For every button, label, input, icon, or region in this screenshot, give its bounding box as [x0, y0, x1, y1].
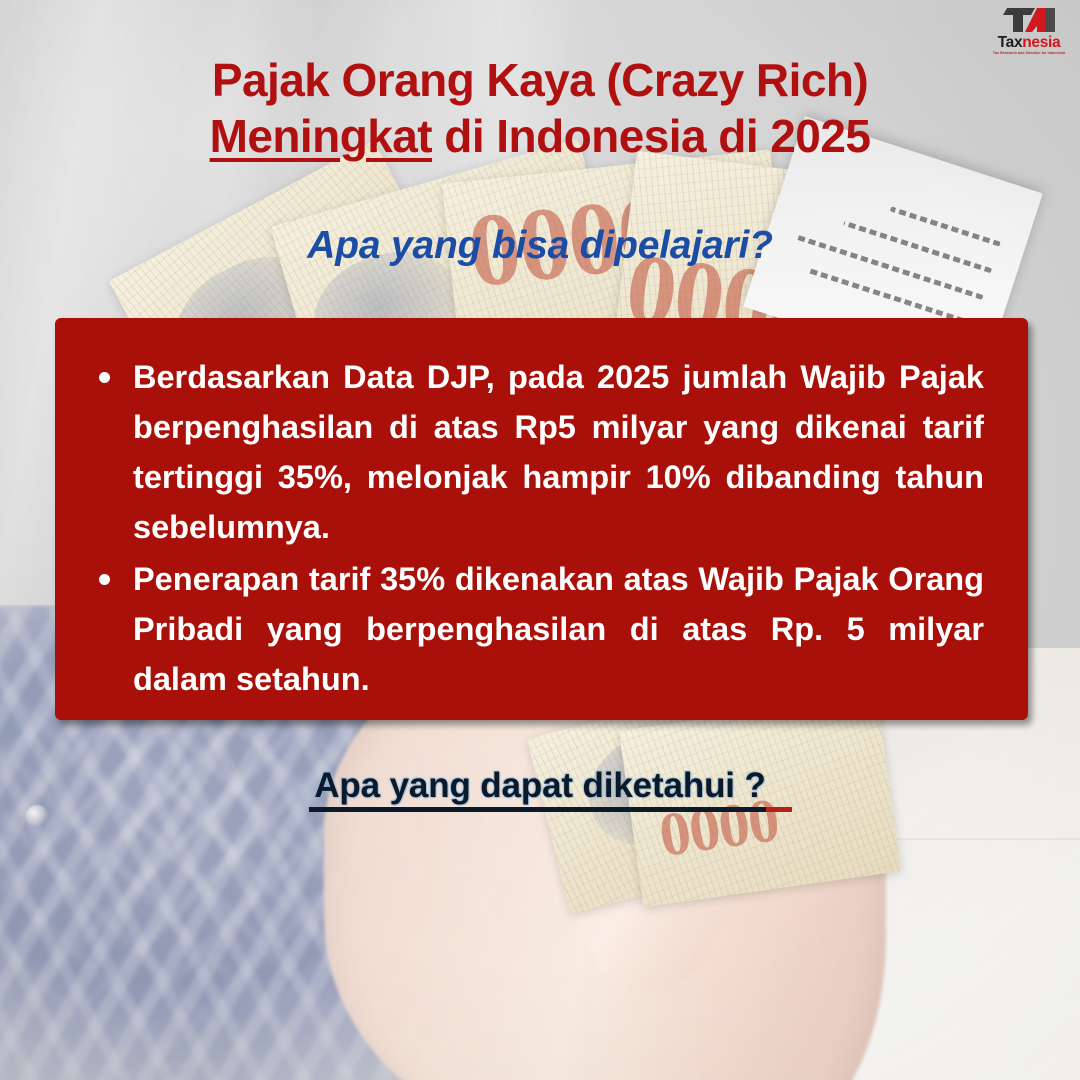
bullet-dot-icon: [99, 574, 110, 585]
footer-question-text: Apa yang dapat diketahui ?: [314, 766, 765, 812]
bullet-list: Berdasarkan Data DJP, pada 2025 jumlah W…: [91, 352, 984, 704]
page-title-emphasis: Meningkat: [210, 110, 433, 162]
page-title-line-1: Pajak Orang Kaya (Crazy Rich): [0, 52, 1080, 108]
page-title-line-2-rest: di Indonesia di 2025: [432, 110, 870, 162]
footer-underline-accent: [766, 807, 792, 812]
footer-question: Apa yang dapat diketahui ?: [0, 766, 1080, 812]
list-item: Berdasarkan Data DJP, pada 2025 jumlah W…: [91, 352, 984, 552]
logo-wordmark-tax: Tax: [998, 34, 1023, 51]
page-title: Pajak Orang Kaya (Crazy Rich) Meningkat …: [0, 52, 1080, 164]
list-item-text: Berdasarkan Data DJP, pada 2025 jumlah W…: [133, 359, 984, 545]
bullet-dot-icon: [99, 372, 110, 383]
list-item-text: Penerapan tarif 35% dikenakan atas Wajib…: [133, 561, 984, 697]
footer-underline: [309, 807, 766, 812]
taxnesia-logo-icon: [1001, 6, 1057, 34]
content-box: Berdasarkan Data DJP, pada 2025 jumlah W…: [55, 318, 1028, 720]
list-item: Penerapan tarif 35% dikenakan atas Wajib…: [91, 554, 984, 704]
subtitle: Apa yang bisa dipelajari?: [0, 224, 1080, 268]
logo-wordmark-nesia: nesia: [1022, 34, 1060, 51]
page-title-line-2: Meningkat di Indonesia di 2025: [0, 108, 1080, 164]
logo-wordmark: Taxnesia: [986, 35, 1072, 51]
infographic-canvas: 0000 0000 0000 0000 0000 0000: [0, 0, 1080, 1080]
